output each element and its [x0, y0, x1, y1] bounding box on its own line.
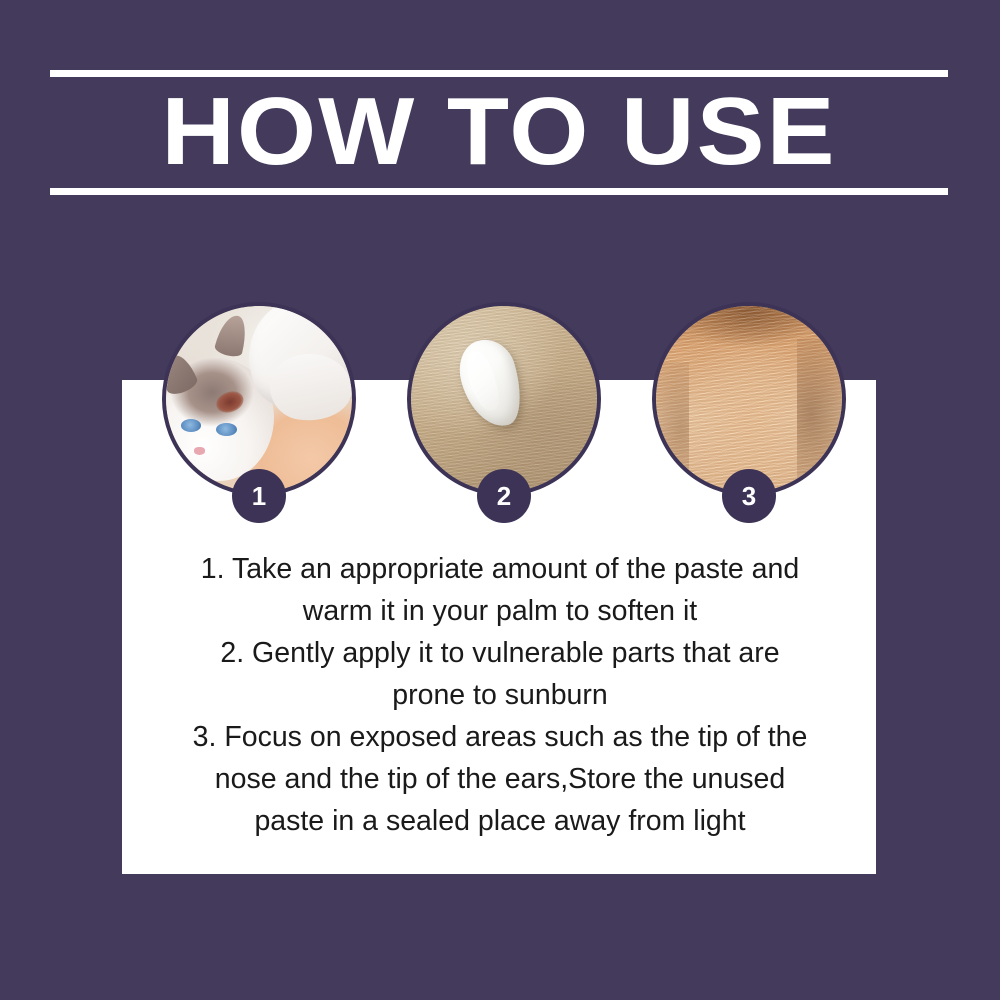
header-rule-top [50, 70, 948, 77]
instructions-text: 1. Take an appropriate amount of the pas… [150, 548, 850, 842]
step-badge-2: 2 [477, 469, 531, 523]
step-badge-3: 3 [722, 469, 776, 523]
page-title: HOW TO USE [23, 78, 975, 188]
header-rule-bottom [50, 188, 948, 195]
instruction-line: 2. Gently apply it to vulnerable parts t… [150, 632, 850, 674]
step-badge-1: 1 [232, 469, 286, 523]
step-item-3[interactable]: 3 [652, 302, 846, 496]
instruction-line: 3. Focus on exposed areas such as the ti… [150, 716, 850, 758]
step-item-1[interactable]: 1 [162, 302, 356, 496]
instruction-line: nose and the tip of the ears,Store the u… [150, 758, 850, 800]
how-to-use-poster: HOW TO USE 1 [0, 0, 1000, 1000]
instruction-line: 1. Take an appropriate amount of the pas… [150, 548, 850, 590]
poster-header: HOW TO USE [50, 70, 950, 195]
instruction-line: paste in a sealed place away from light [150, 800, 850, 842]
white-paste-on-fur-photo [407, 302, 601, 496]
step-item-2[interactable]: 2 [407, 302, 601, 496]
ginger-fur-closeup-photo [652, 302, 846, 496]
cat-with-gloved-hands-photo [162, 302, 356, 496]
instruction-line: warm it in your palm to soften it [150, 590, 850, 632]
instruction-line: prone to sunburn [150, 674, 850, 716]
